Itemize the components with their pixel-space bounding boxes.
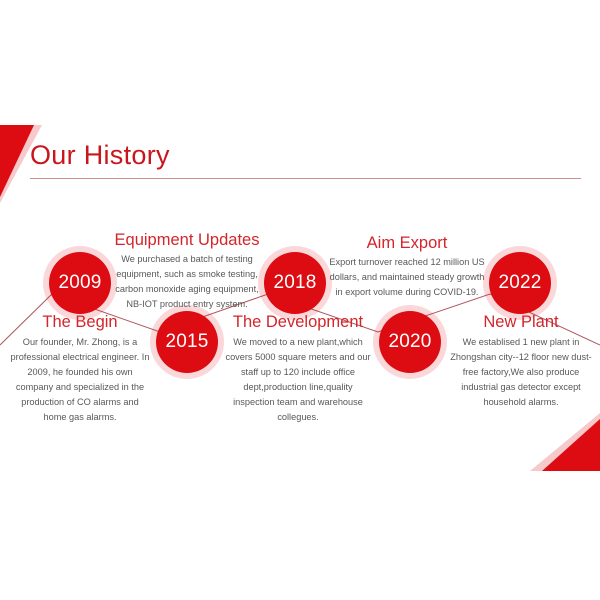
timeline-body-2022: We establised 1 new plant in Zhongshan c…	[449, 335, 593, 410]
timeline-body-2018: We moved to a new plant,which covers 500…	[222, 335, 374, 424]
timeline-node-year: 2020	[388, 331, 431, 353]
slide-canvas: Our History 2009 The Begin Our founder, …	[0, 0, 600, 600]
timeline-node-2009[interactable]: 2009	[49, 252, 111, 314]
timeline-heading-2020: Aim Export	[328, 234, 486, 253]
timeline-node-2020[interactable]: 2020	[379, 311, 441, 373]
timeline-heading-2022: New Plant	[449, 313, 593, 332]
timeline-block-2020: Aim Export Export turnover reached 12 mi…	[328, 234, 486, 300]
timeline-node-year: 2015	[165, 331, 208, 353]
timeline-node-year: 2009	[58, 272, 101, 294]
timeline-heading-2015: Equipment Updates	[107, 231, 267, 250]
timeline-heading-2009: The Begin	[9, 313, 151, 332]
timeline-node-2018[interactable]: 2018	[264, 252, 326, 314]
timeline-block-2015: Equipment Updates We purchased a batch o…	[107, 231, 267, 312]
timeline-block-2022: New Plant We establised 1 new plant in Z…	[449, 313, 593, 410]
timeline: 2009 The Begin Our founder, Mr. Zhong, i…	[0, 0, 600, 600]
timeline-node-2015[interactable]: 2015	[156, 311, 218, 373]
timeline-body-2020: Export turnover reached 12 million US do…	[328, 255, 486, 300]
timeline-node-year: 2022	[498, 272, 541, 294]
timeline-block-2018: The Development We moved to a new plant,…	[222, 313, 374, 424]
timeline-heading-2018: The Development	[222, 313, 374, 332]
timeline-node-year: 2018	[273, 272, 316, 294]
timeline-node-2022[interactable]: 2022	[489, 252, 551, 314]
timeline-block-2009: The Begin Our founder, Mr. Zhong, is a p…	[9, 313, 151, 424]
timeline-body-2015: We purchased a batch of testing equipmen…	[107, 252, 267, 312]
timeline-body-2009: Our founder, Mr. Zhong, is a professiona…	[9, 335, 151, 424]
